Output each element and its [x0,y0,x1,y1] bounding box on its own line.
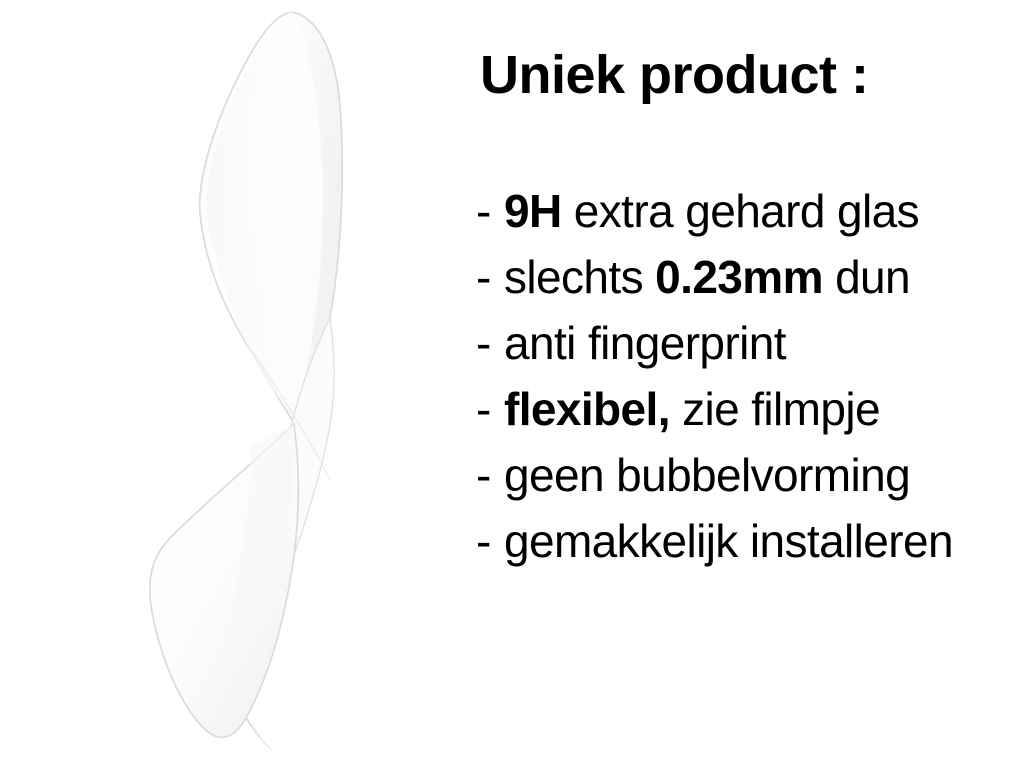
feature-list-item: -geen bubbelvorming [476,442,1024,508]
bullet-dash: - [476,178,504,244]
feature-text: dun [823,251,910,303]
page-title: Uniek product : [480,48,869,102]
bullet-dash: - [476,310,504,376]
bullet-dash: - [476,376,504,442]
glass-upper-shade [206,12,323,420]
feature-list-item: -anti fingerprint [476,310,1024,376]
feature-text: zie filmpje [670,383,880,435]
feature-list: -9H extra gehard glas-slechts 0.23mm dun… [476,178,1024,574]
feature-text-emphasis: flexibel, [504,383,670,435]
feature-text: gemakkelijk installeren [504,515,953,567]
product-info-slide: Uniek product : -9H extra gehard glas-sl… [0,0,1024,768]
feature-text-emphasis: 0.23mm [655,251,823,303]
feature-text: anti fingerprint [504,317,786,369]
feature-text: geen bubbelvorming [504,449,910,501]
feature-list-item: -flexibel, zie filmpje [476,376,1024,442]
feature-list-item: -slechts 0.23mm dun [476,244,1024,310]
feature-list-item: -gemakkelijk installeren [476,508,1024,574]
feature-text-column: Uniek product : -9H extra gehard glas-sl… [462,0,1024,768]
bullet-dash: - [476,244,504,310]
feature-list-item: -9H extra gehard glas [476,178,1024,244]
bullet-dash: - [476,442,504,508]
product-image [0,0,460,768]
feature-text-emphasis: 9H [504,185,562,237]
feature-text: slechts [504,251,655,303]
glass-bottom-edge-fade [246,718,278,756]
bullet-dash: - [476,508,504,574]
feature-text: extra gehard glas [562,185,919,237]
